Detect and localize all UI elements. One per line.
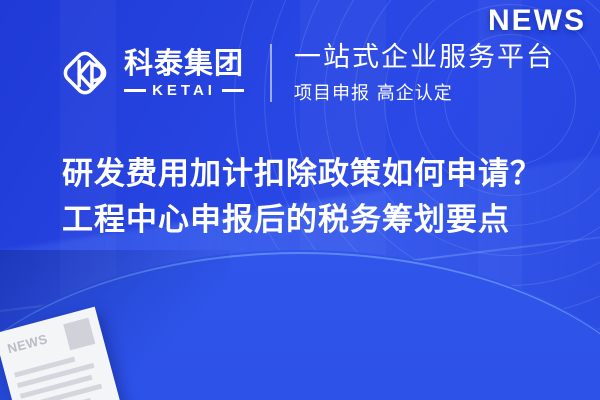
company-logo[interactable]: 科泰集团 KETAI — [56, 44, 244, 102]
logo-wordmark: 科泰集团 KETAI — [124, 48, 244, 98]
image-placeholder-icon — [63, 318, 95, 351]
tagline-block: 一站式企业服务平台 项目申报 高企认定 — [294, 42, 555, 105]
banner-header: 科泰集团 KETAI 一站式企业服务平台 项目申报 高企认定 — [56, 42, 555, 105]
headline-block: 研发费用加计扣除政策如何申请？ 工程中心申报后的税务筹划要点 — [62, 152, 562, 244]
headline-line-1: 研发费用加计扣除政策如何申请？ — [62, 152, 562, 198]
newspaper-title: NEWS — [6, 331, 49, 356]
logo-english-row: KETAI — [124, 82, 244, 99]
tagline-sub: 项目申报 高企认定 — [294, 79, 555, 105]
logo-dash-left — [124, 89, 146, 92]
news-banner: NEWS 科泰集团 KETAI — [0, 0, 600, 400]
logo-chinese-name: 科泰集团 — [124, 48, 244, 78]
news-badge: NEWS — [488, 4, 586, 38]
ketai-kp-diamond-icon — [56, 44, 114, 102]
header-divider — [270, 44, 272, 102]
logo-english-name: KETAI — [146, 82, 222, 99]
headline-line-2: 工程中心申报后的税务筹划要点 — [62, 198, 562, 244]
tagline-main: 一站式企业服务平台 — [294, 42, 555, 74]
logo-dash-right — [222, 89, 244, 92]
